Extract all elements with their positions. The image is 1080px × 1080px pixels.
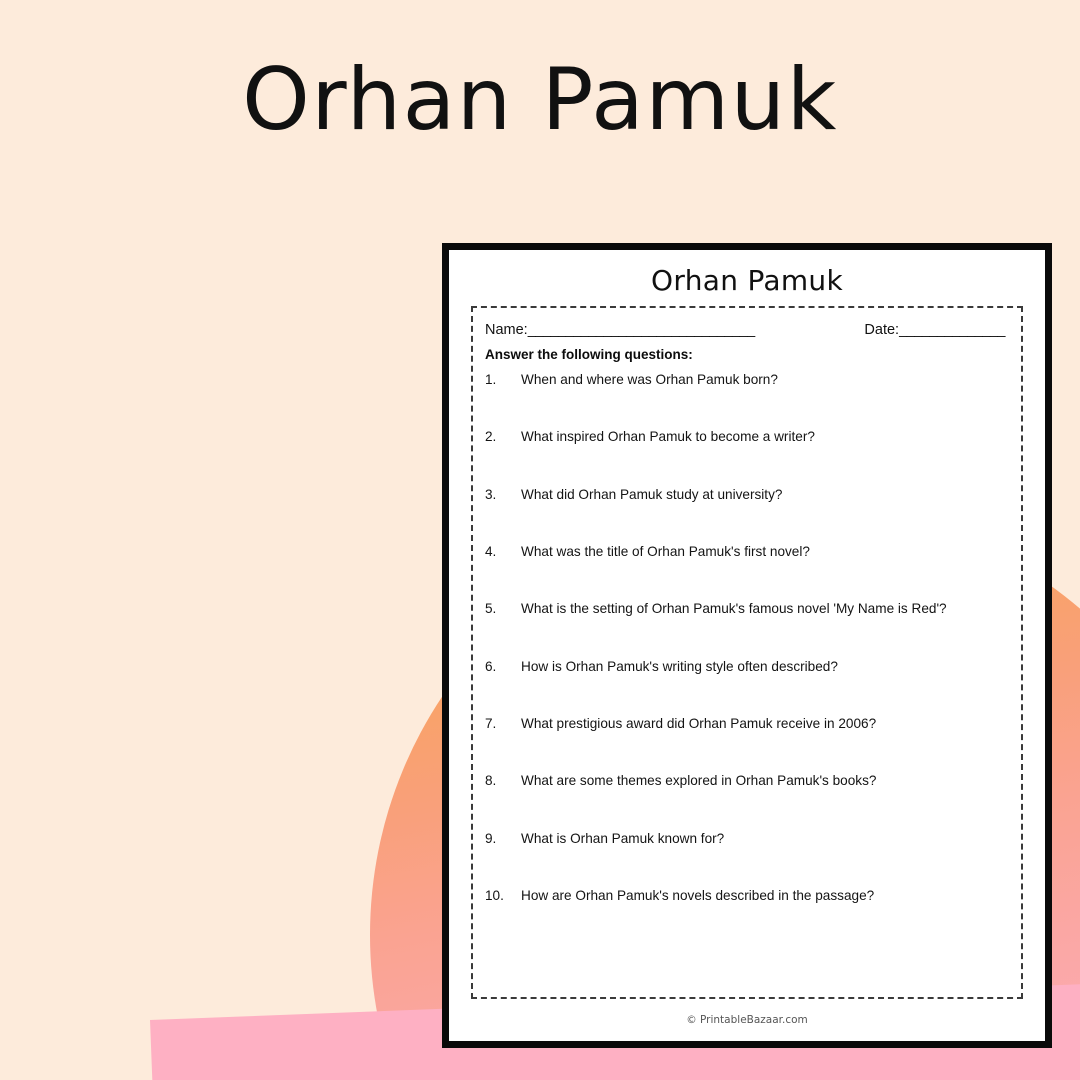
question-text: What are some themes explored in Orhan P…: [521, 773, 1009, 789]
question-item: 7. What prestigious award did Orhan Pamu…: [485, 716, 1009, 732]
date-label: Date:: [864, 322, 899, 338]
question-item: 8. What are some themes explored in Orha…: [485, 773, 1009, 789]
question-item: 9. What is Orhan Pamuk known for?: [485, 831, 1009, 847]
name-date-row: Name: ______________________________ Dat…: [485, 322, 1009, 338]
question-text: What did Orhan Pamuk study at university…: [521, 487, 1009, 503]
question-list: 1. When and where was Orhan Pamuk born? …: [485, 372, 1009, 904]
question-number: 2.: [485, 429, 521, 445]
question-item: 3. What did Orhan Pamuk study at univers…: [485, 487, 1009, 503]
question-text: What inspired Orhan Pamuk to become a wr…: [521, 429, 1009, 445]
worksheet-inner: Orhan Pamuk Name: ______________________…: [449, 250, 1045, 1041]
name-label: Name:: [485, 322, 528, 338]
question-text: How are Orhan Pamuk's novels described i…: [521, 888, 1009, 904]
question-number: 6.: [485, 659, 521, 675]
question-item: 5. What is the setting of Orhan Pamuk's …: [485, 601, 1009, 617]
date-input-rule[interactable]: ______________: [899, 322, 1005, 338]
question-number: 7.: [485, 716, 521, 732]
worksheet-dashed-frame: Name: ______________________________ Dat…: [471, 306, 1023, 999]
question-text: When and where was Orhan Pamuk born?: [521, 372, 1009, 388]
name-field[interactable]: Name: ______________________________: [485, 322, 755, 338]
question-item: 10. How are Orhan Pamuk's novels describ…: [485, 888, 1009, 904]
worksheet-title: Orhan Pamuk: [469, 264, 1025, 297]
question-item: 6. How is Orhan Pamuk's writing style of…: [485, 659, 1009, 675]
question-number: 5.: [485, 601, 521, 617]
worksheet-sheet: Orhan Pamuk Name: ______________________…: [442, 243, 1052, 1048]
name-input-rule[interactable]: ______________________________: [528, 322, 755, 338]
question-text: What is the setting of Orhan Pamuk's fam…: [521, 601, 1009, 617]
question-item: 1. When and where was Orhan Pamuk born?: [485, 372, 1009, 388]
question-number: 3.: [485, 487, 521, 503]
question-text: What prestigious award did Orhan Pamuk r…: [521, 716, 1009, 732]
worksheet-footer-copyright: © PrintableBazaar.com: [449, 1014, 1045, 1026]
question-number: 10.: [485, 888, 521, 904]
question-text: How is Orhan Pamuk's writing style often…: [521, 659, 1009, 675]
question-number: 9.: [485, 831, 521, 847]
instruction-text: Answer the following questions:: [485, 347, 1009, 362]
question-text: What was the title of Orhan Pamuk's firs…: [521, 544, 1009, 560]
question-number: 4.: [485, 544, 521, 560]
question-item: 2. What inspired Orhan Pamuk to become a…: [485, 429, 1009, 445]
date-field[interactable]: Date: ______________: [864, 322, 1009, 338]
question-text: What is Orhan Pamuk known for?: [521, 831, 1009, 847]
question-number: 8.: [485, 773, 521, 789]
question-item: 4. What was the title of Orhan Pamuk's f…: [485, 544, 1009, 560]
page-title: Orhan Pamuk: [0, 50, 1080, 150]
question-number: 1.: [485, 372, 521, 388]
